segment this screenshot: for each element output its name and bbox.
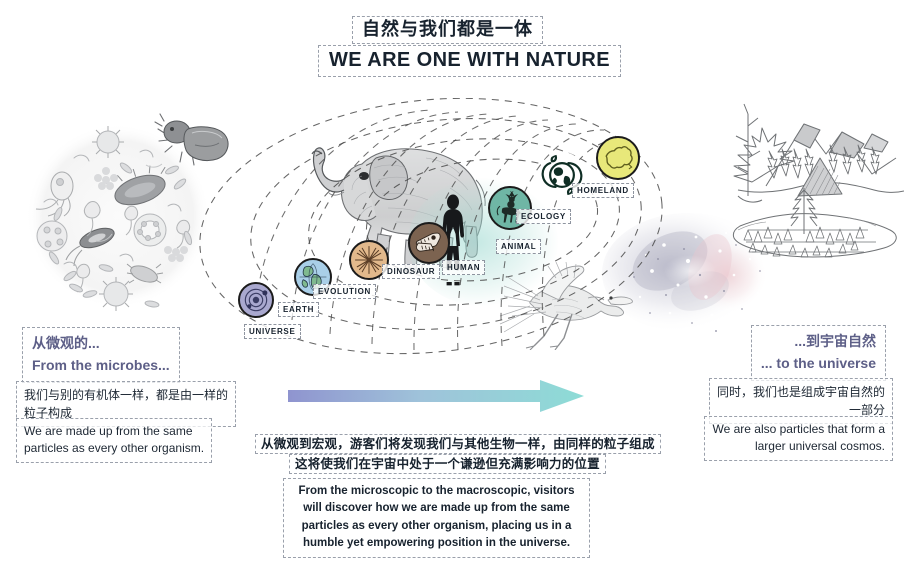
node-label-universe: UNIVERSE <box>244 324 301 339</box>
evolution-orbit-diagram: UNIVERSE EARTH <box>196 98 666 358</box>
right-heading: ...到宇宙自然 ... to the universe <box>751 325 886 381</box>
node-label-homeland: HOMELAND <box>572 183 634 198</box>
bottom-caption-en: From the microscopic to the macroscopic,… <box>283 478 590 558</box>
progression-arrow <box>288 378 584 414</box>
node-universe[interactable] <box>238 282 274 318</box>
homeland-map-icon <box>598 138 638 178</box>
universe-orbit-icon <box>240 284 272 316</box>
mountain-forest-sketch-illustration <box>708 80 904 292</box>
left-body-en-line1: We are made up from the same <box>24 423 204 440</box>
node-label-animal: ANIMAL <box>496 239 541 254</box>
bottom-caption-cn-line1: 从微观到宏观，游客们将发现我们与其他生物一样，由同样的粒子组成 <box>255 434 661 454</box>
left-body-cn-line1: 我们与别的有机体一样，都是由一样的 <box>24 386 228 404</box>
node-label-ecology: ECOLOGY <box>516 209 571 224</box>
right-heading-cn: ...到宇宙自然 <box>761 331 876 353</box>
node-label-human: HUMAN <box>442 260 485 275</box>
right-body-en-line2: larger universal cosmos. <box>712 438 885 455</box>
page-title-en: WE ARE ONE WITH NATURE <box>318 45 621 77</box>
node-label-earth: EARTH <box>278 302 319 317</box>
left-heading-en: From the microbes... <box>32 355 170 377</box>
node-homeland[interactable] <box>596 136 640 180</box>
left-heading: 从微观的... From the microbes... <box>22 327 180 383</box>
right-body-en: We are also particles that form a larger… <box>704 416 893 461</box>
right-body-en-line1: We are also particles that form a <box>712 421 885 438</box>
dinosaur-skull-icon <box>410 224 448 262</box>
page-title-cn: 自然与我们都是一体 <box>352 16 543 44</box>
node-dinosaur[interactable] <box>408 222 450 264</box>
left-body-en-line2: particles as every other organism. <box>24 440 204 457</box>
node-label-evolution: EVOLUTION <box>313 284 376 299</box>
right-body-cn-line1: 同时，我们也是组成宇宙自然的 <box>717 383 885 401</box>
node-label-dinosaur: DINOSAUR <box>382 264 440 279</box>
left-heading-cn: 从微观的... <box>32 333 170 355</box>
right-heading-en: ... to the universe <box>761 353 876 375</box>
infographic-canvas: 自然与我们都是一体 WE ARE ONE WITH NATURE <box>0 0 910 573</box>
bottom-caption-cn-line2: 这将使我们在宇宙中处于一个谦逊但充满影响力的位置 <box>289 454 606 474</box>
left-body-en: We are made up from the same particles a… <box>16 418 212 463</box>
